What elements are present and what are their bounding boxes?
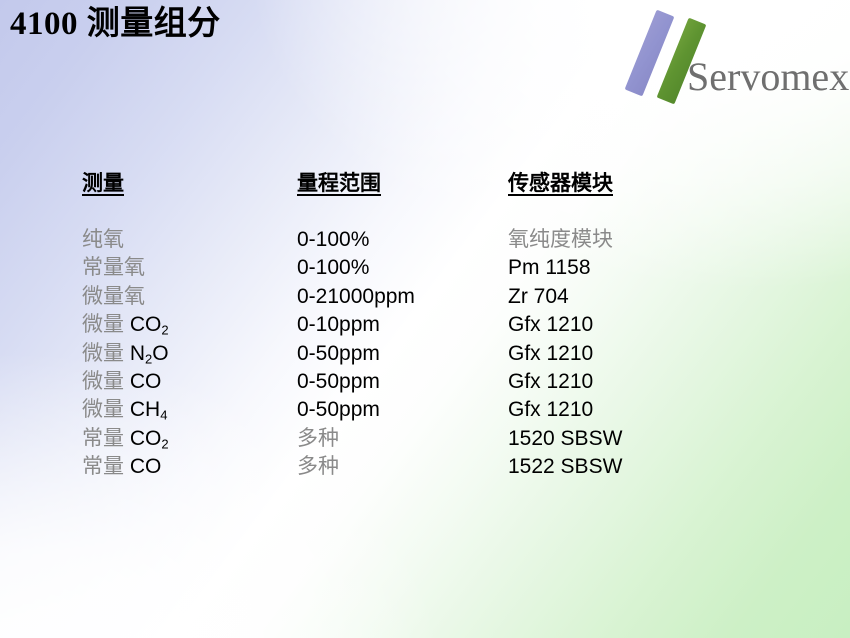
table-row: 微量 N2O0-50ppmGfx 1210 bbox=[82, 340, 782, 368]
measurement-label: 纯氧 bbox=[82, 228, 124, 251]
table-row: 微量 CH40-50ppmGfx 1210 bbox=[82, 396, 782, 424]
cell-sensor-module: Gfx 1210 bbox=[508, 396, 593, 424]
cell-sensor-module: 1522 SBSW bbox=[508, 453, 622, 481]
cell-measurement: 常量氧 bbox=[82, 254, 145, 282]
cell-sensor-module: 1520 SBSW bbox=[508, 425, 622, 453]
cell-sensor-module: Gfx 1210 bbox=[508, 340, 593, 368]
measurement-label: 微量 bbox=[82, 342, 130, 365]
measurement-formula: CO bbox=[130, 370, 162, 393]
cell-measurement: 微量 CO2 bbox=[82, 311, 169, 339]
page-title: 4100 测量组分 bbox=[10, 2, 221, 46]
measurement-label: 微量氧 bbox=[82, 285, 145, 308]
servomex-logo: Servomex bbox=[626, 8, 842, 104]
table-row: 微量 CO20-10ppmGfx 1210 bbox=[82, 311, 782, 339]
measurement-formula: CO bbox=[130, 427, 162, 450]
cell-sensor-module: Gfx 1210 bbox=[508, 311, 593, 339]
cell-measurement: 常量 CO bbox=[82, 453, 161, 481]
measurement-formula: CH bbox=[130, 398, 160, 421]
slide-canvas: 4100 测量组分 Servomex 测量 量程范围 传感器模块 纯氧0-100… bbox=[0, 0, 850, 638]
measurement-label: 微量 bbox=[82, 398, 130, 421]
cell-measurement: 常量 CO2 bbox=[82, 425, 169, 453]
table-header-row: 测量 量程范围 传感器模块 bbox=[82, 170, 782, 226]
measurement-label: 常量 bbox=[82, 455, 130, 478]
cell-sensor-module: Zr 704 bbox=[508, 283, 569, 311]
cell-range: 0-100% bbox=[297, 254, 369, 282]
measurement-formula-subscript: 2 bbox=[161, 322, 168, 337]
table-body: 纯氧0-100%氧纯度模块常量氧0-100%Pm 1158微量氧0-21000p… bbox=[82, 226, 782, 482]
cell-range: 0-50ppm bbox=[297, 368, 380, 396]
cell-sensor-module: Pm 1158 bbox=[508, 254, 591, 282]
column-header-sensor-module: 传感器模块 bbox=[508, 170, 613, 198]
column-header-measurement: 测量 bbox=[82, 170, 124, 198]
measurement-spec-table: 测量 量程范围 传感器模块 纯氧0-100%氧纯度模块常量氧0-100%Pm 1… bbox=[82, 170, 782, 482]
logo-wordmark: Servomex bbox=[687, 55, 849, 99]
table-row: 常量氧0-100%Pm 1158 bbox=[82, 254, 782, 282]
measurement-label: 微量 bbox=[82, 313, 130, 336]
column-header-range: 量程范围 bbox=[297, 170, 381, 198]
cell-sensor-module: 氧纯度模块 bbox=[508, 226, 613, 254]
measurement-formula: CO bbox=[130, 455, 162, 478]
cell-sensor-module: Gfx 1210 bbox=[508, 368, 593, 396]
table-row: 常量 CO2多种1520 SBSW bbox=[82, 425, 782, 453]
cell-range: 多种 bbox=[297, 453, 339, 481]
measurement-formula-subscript: 4 bbox=[160, 408, 167, 423]
table-row: 常量 CO多种1522 SBSW bbox=[82, 453, 782, 481]
cell-range: 0-21000ppm bbox=[297, 283, 415, 311]
measurement-formula-subscript: 2 bbox=[161, 436, 168, 451]
cell-range: 0-50ppm bbox=[297, 396, 380, 424]
cell-range: 0-100% bbox=[297, 226, 369, 254]
table-row: 微量氧0-21000ppmZr 704 bbox=[82, 283, 782, 311]
cell-measurement: 微量 CH4 bbox=[82, 396, 167, 424]
table-row: 纯氧0-100%氧纯度模块 bbox=[82, 226, 782, 254]
table-row: 微量 CO0-50ppmGfx 1210 bbox=[82, 368, 782, 396]
cell-measurement: 微量 N2O bbox=[82, 340, 169, 368]
cell-range: 0-50ppm bbox=[297, 340, 380, 368]
measurement-formula-tail: O bbox=[152, 342, 168, 365]
cell-measurement: 微量氧 bbox=[82, 283, 145, 311]
cell-measurement: 微量 CO bbox=[82, 368, 161, 396]
cell-measurement: 纯氧 bbox=[82, 226, 124, 254]
cell-range: 多种 bbox=[297, 425, 339, 453]
measurement-formula: N bbox=[130, 342, 145, 365]
measurement-label: 常量 bbox=[82, 427, 130, 450]
cell-range: 0-10ppm bbox=[297, 311, 380, 339]
measurement-formula: CO bbox=[130, 313, 162, 336]
measurement-label: 常量氧 bbox=[82, 256, 145, 279]
measurement-label: 微量 bbox=[82, 370, 130, 393]
